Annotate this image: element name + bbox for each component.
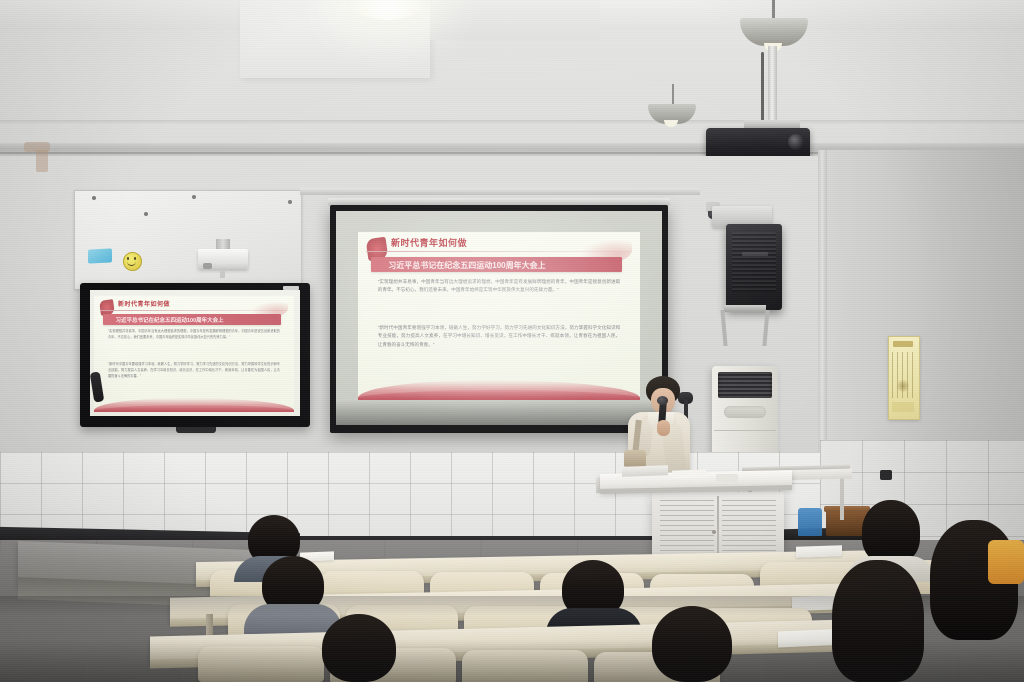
slide-paragraph: "新时代中国青年要增强学习本领，砥砺人生，努力学好学习，努力学习先进的文化知识方… bbox=[108, 362, 280, 380]
notice-header bbox=[893, 341, 913, 347]
air-conditioner-badge bbox=[724, 406, 766, 418]
side-wall bbox=[820, 150, 1024, 460]
wall-notch bbox=[880, 470, 892, 480]
blue-sticker bbox=[88, 248, 112, 263]
whiteboard-screw bbox=[144, 212, 148, 216]
laptop bbox=[622, 465, 668, 477]
blue-stool bbox=[798, 508, 822, 536]
paper-sheet bbox=[796, 545, 842, 558]
slide-title: 新时代青年如何做 bbox=[118, 299, 170, 308]
slide-duplicate: 新时代青年如何做 习近平总书记在纪念五四运动100周年大会上 "实现理想并非易事… bbox=[94, 296, 294, 412]
speaker-grille bbox=[732, 232, 776, 292]
whiteboard-screw bbox=[92, 196, 96, 200]
smiley-eye bbox=[134, 257, 136, 260]
speaker-label bbox=[742, 252, 768, 256]
desk-item bbox=[716, 474, 738, 482]
slide-banner: 习近平总书记在纪念五四运动100周年大会上 bbox=[103, 314, 281, 325]
monitor-stand bbox=[176, 427, 216, 433]
ceiling-beam bbox=[430, 0, 600, 40]
side-table-leg bbox=[840, 476, 844, 520]
whiteboard-screw bbox=[192, 195, 196, 199]
slide-banner: 习近平总书记在纪念五四运动100周年大会上 bbox=[371, 257, 622, 272]
row-shadow bbox=[0, 596, 1024, 616]
presentation-slide: 新时代青年如何做 习近平总书记在纪念五四运动100周年大会上 "实现理想并非易事… bbox=[358, 232, 640, 400]
projector-mount-pole bbox=[768, 46, 777, 128]
notice-footer bbox=[892, 402, 914, 412]
screen-rail bbox=[300, 188, 700, 195]
screen-shadow bbox=[336, 400, 662, 425]
podium-handle bbox=[712, 530, 716, 534]
slide-banner-text: 习近平总书记在纪念五四运动100周年大会上 bbox=[388, 260, 545, 271]
orange-bag bbox=[988, 540, 1024, 584]
whiteboard-screw bbox=[288, 200, 292, 204]
air-conditioner-seam bbox=[714, 430, 776, 431]
slide-wave-decoration bbox=[94, 405, 294, 412]
ceiling-edge bbox=[0, 120, 1024, 124]
slide-paragraph: "实现理想并非易事，中国青年当有远大理想追求的理想，中国青年是有发展鲜明理想的青… bbox=[378, 278, 621, 295]
notice-seal-icon bbox=[897, 380, 909, 392]
wooden-box-lid bbox=[824, 506, 870, 512]
wall-scuff-mark bbox=[36, 150, 48, 172]
whiteboard bbox=[74, 190, 302, 290]
microphone-head-icon bbox=[657, 396, 668, 405]
monitor-badge bbox=[283, 286, 299, 290]
wall-projector-stem bbox=[220, 268, 225, 278]
foreground-shadow bbox=[0, 640, 1024, 682]
slide-paragraph: "实现理想并非易事，中国青年当有远大理想追求的理想，中国青年是有发展鲜明理想的青… bbox=[108, 329, 280, 341]
slide-banner-text: 习近平总书记在纪念五四运动100周年大会上 bbox=[115, 316, 223, 324]
slide-title: 新时代青年如何做 bbox=[391, 236, 467, 249]
paper-sheet bbox=[672, 469, 706, 478]
projector-cable bbox=[761, 52, 764, 126]
slide-paragraph: "新时代中国青年要增强学习本领，砥砺人生，努力学好学习，努力学习先进的文化知识方… bbox=[378, 324, 621, 349]
wall-pipe bbox=[818, 150, 827, 462]
air-conditioner-grille bbox=[718, 372, 772, 398]
projector-lens-icon bbox=[788, 134, 804, 150]
wall-projector-lens-icon bbox=[203, 263, 212, 269]
smiley-eye bbox=[127, 257, 129, 260]
speaker-bracket-arm bbox=[724, 305, 766, 312]
presenter-hand bbox=[657, 420, 670, 436]
classroom-photo: 新时代青年如何做 习近平总书记在纪念五四运动100周年大会上 "实现理想并非易事… bbox=[0, 0, 1024, 682]
audience-head bbox=[862, 500, 920, 564]
